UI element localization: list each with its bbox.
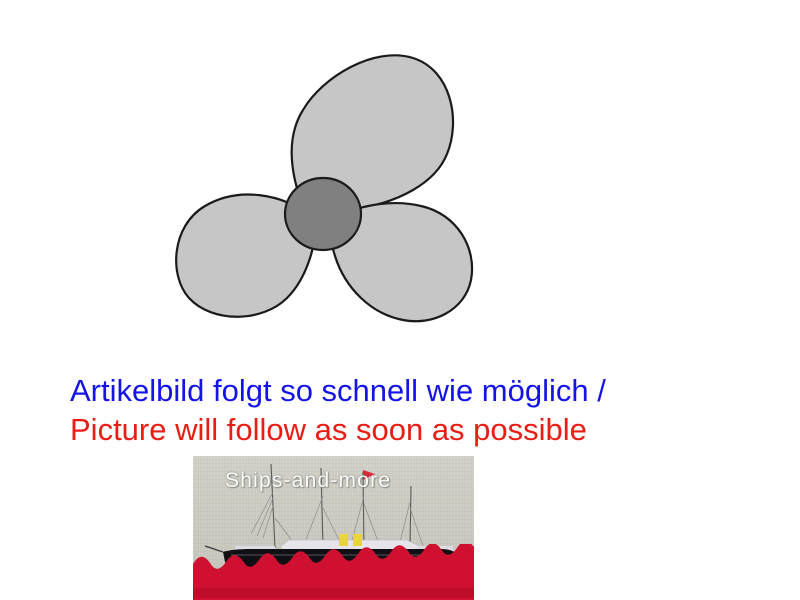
photo-watermark: Ships-and-more (225, 469, 465, 493)
propeller-placeholder-image (165, 42, 485, 332)
shop-logo-photo: Ships-and-more (193, 456, 474, 600)
propeller-hub (285, 178, 361, 250)
ship-rigging (251, 492, 423, 546)
propeller-icon (165, 42, 485, 332)
wave-shadow (193, 588, 474, 598)
placeholder-notice: Artikelbild folgt so schnell wie möglich… (70, 371, 730, 449)
red-wave-band (193, 544, 474, 600)
notice-line-english: Picture will follow as soon as possible (70, 410, 730, 449)
notice-line-german: Artikelbild folgt so schnell wie möglich… (70, 371, 730, 410)
